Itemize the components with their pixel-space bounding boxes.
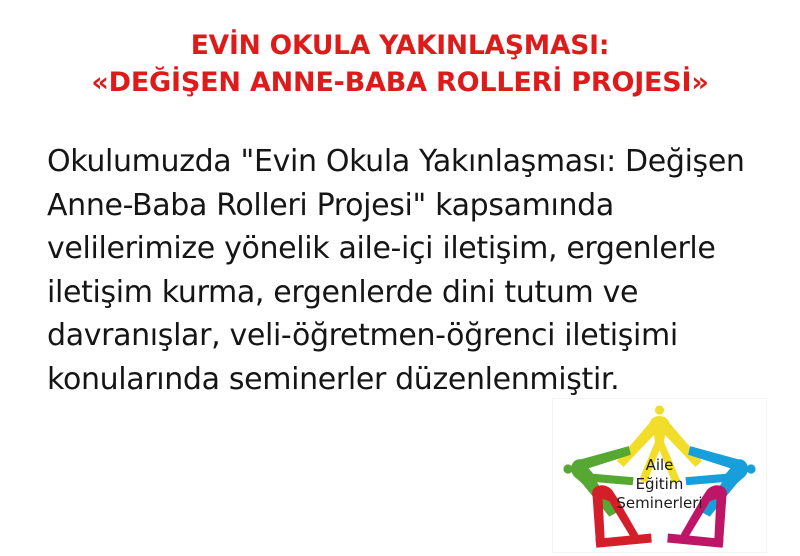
title-line-2: «DEĞİŞEN ANNE-BABA ROLLERİ PROJESİ»	[0, 64, 800, 101]
page-title: EVİN OKULA YAKINLAŞMASI: «DEĞİŞEN ANNE-B…	[0, 27, 800, 101]
slide-canvas: EVİN OKULA YAKINLAŞMASI: «DEĞİŞEN ANNE-B…	[0, 0, 800, 556]
body-line-2: Anne-Baba Rolleri Projesi" kapsamında	[47, 184, 759, 228]
logo-caption-line-3: Seminerleri	[616, 494, 702, 512]
body-line-1: Okulumuzda "Evin Okula Yakınlaşması: Değ…	[47, 140, 759, 184]
logo-caption-line-1: Aile	[646, 456, 674, 474]
aile-egitim-seminerleri-logo: Aile Eğitim Seminerleri	[552, 398, 767, 553]
body-line-3: velilerimize yönelik aile-içi iletişim, …	[47, 227, 759, 271]
logo-caption-line-2: Eğitim	[636, 475, 684, 493]
body-line-5: davranışlar, veli-öğretmen-öğrenci ileti…	[47, 314, 759, 358]
body-line-4: iletişim kurma, ergenlerde dini tutum ve	[47, 271, 759, 315]
body-line-6: konularında seminerler düzenlenmiştir.	[47, 358, 759, 402]
body-paragraph: Okulumuzda "Evin Okula Yakınlaşması: Değ…	[47, 140, 759, 401]
title-line-1: EVİN OKULA YAKINLAŞMASI:	[0, 27, 800, 64]
